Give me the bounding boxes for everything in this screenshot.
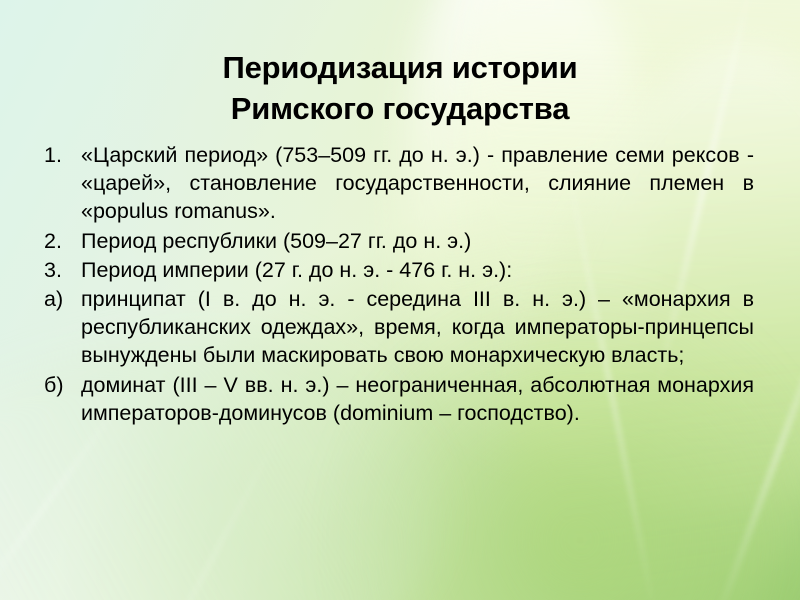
slide-content: Периодизация истории Римского государств… — [0, 0, 800, 600]
list-item-text: принципат (I в. до н. э. - середина III … — [81, 285, 754, 370]
list-item: 3.Период империи (27 г. до н. э. - 476 г… — [44, 256, 754, 284]
list-item-marker: 1. — [44, 141, 62, 169]
list-item-marker: 2. — [44, 227, 62, 255]
slide-canvas: Периодизация истории Римского государств… — [0, 0, 800, 600]
list-item-text: Период империи (27 г. до н. э. - 476 г. … — [81, 256, 754, 284]
list-item-text: «Царский период» (753–509 гг. до н. э.) … — [81, 141, 754, 226]
list-item: 1.«Царский период» (753–509 гг. до н. э.… — [44, 141, 754, 226]
list-item-marker: 3. — [44, 256, 62, 284]
list-item: 2.Период республики (509–27 гг. до н. э.… — [44, 227, 754, 255]
list-item: б)доминат (III – V вв. н. э.) – неограни… — [44, 371, 754, 427]
page-title: Периодизация истории Римского государств… — [60, 47, 740, 129]
list-item-marker: б) — [44, 371, 63, 399]
list-item-text: доминат (III – V вв. н. э.) – неограниче… — [81, 371, 754, 427]
page-title-line-2: Римского государства — [60, 88, 740, 129]
list-item-marker: а) — [44, 285, 63, 313]
list-item: а)принципат (I в. до н. э. - середина II… — [44, 285, 754, 370]
page-title-line-1: Периодизация истории — [60, 47, 740, 88]
body-list: 1.«Царский период» (753–509 гг. до н. э.… — [44, 141, 754, 428]
list-item-text: Период республики (509–27 гг. до н. э.) — [81, 227, 754, 255]
